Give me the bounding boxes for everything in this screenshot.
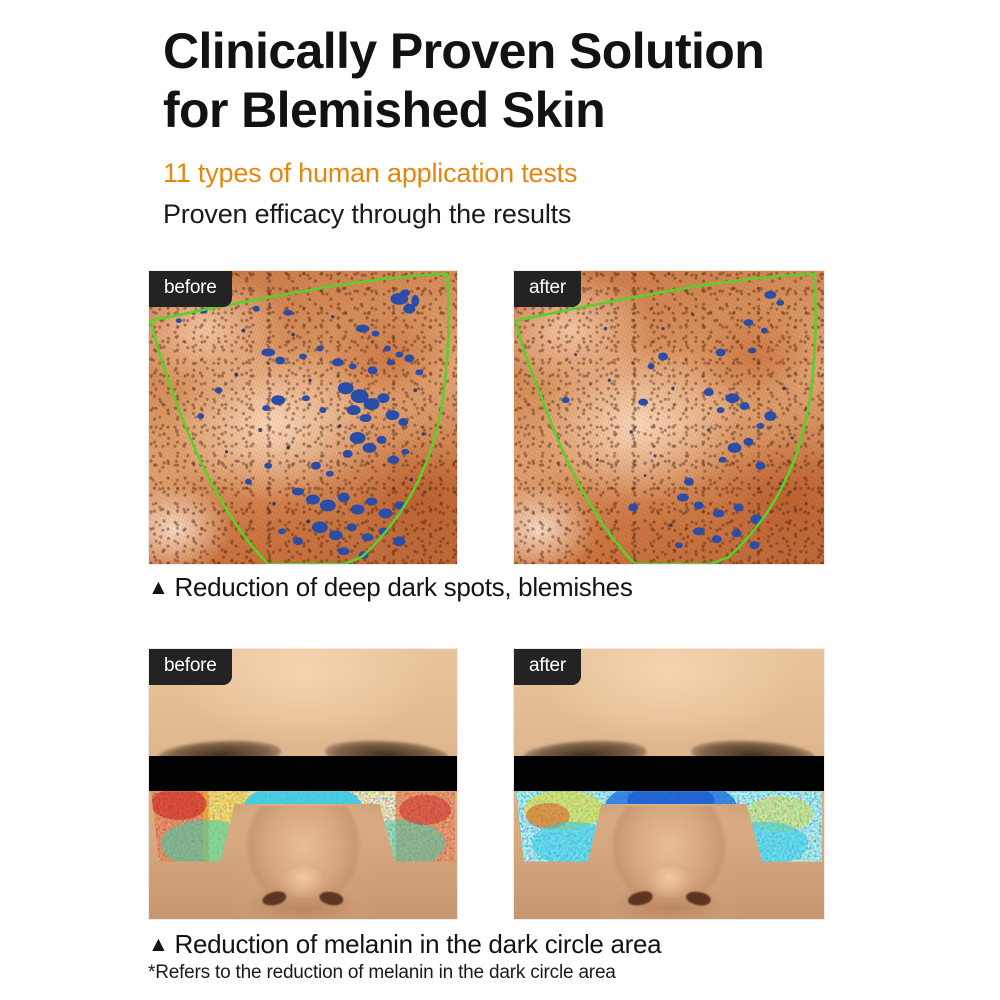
- privacy-censor-bar: [514, 756, 824, 791]
- badge-after: after: [514, 649, 581, 685]
- caption-deep-dark-spots: ▲Reduction of deep dark spots, blemishes: [148, 572, 633, 603]
- uv-photo-before: before: [148, 270, 458, 565]
- badge-before: before: [149, 649, 232, 685]
- caption-melanin-dark-circle: ▲Reduction of melanin in the dark circle…: [148, 929, 661, 960]
- face-photo-after: after: [513, 648, 825, 920]
- header-block: Clinically Proven Solution for Blemished…: [163, 22, 923, 232]
- triangle-bullet-icon: ▲: [148, 576, 169, 600]
- figure-melanin-dark-circle: before: [148, 648, 828, 920]
- face-photo-before: before: [148, 648, 458, 920]
- caption-text: Reduction of deep dark spots, blemishes: [175, 572, 633, 602]
- nose: [601, 806, 737, 920]
- triangle-bullet-icon: ▲: [148, 933, 169, 957]
- figure-deep-dark-spots: before: [148, 270, 828, 565]
- footnote-melanin: *Refers to the reduction of melanin in t…: [148, 962, 616, 984]
- caption-text: Reduction of melanin in the dark circle …: [175, 929, 662, 959]
- promo-page: Clinically Proven Solution for Blemished…: [0, 0, 1000, 1000]
- privacy-censor-bar: [149, 756, 457, 791]
- subtitle-secondary: Proven efficacy through the results: [163, 198, 923, 232]
- nose: [235, 806, 371, 920]
- page-title: Clinically Proven Solution for Blemished…: [163, 22, 923, 139]
- uv-photo-after: after: [513, 270, 825, 565]
- badge-before: before: [149, 271, 232, 307]
- badge-after: after: [514, 271, 581, 307]
- roi-outline-before: [149, 271, 457, 564]
- roi-outline-after: [514, 271, 824, 564]
- subtitle-highlight: 11 types of human application tests: [163, 157, 923, 191]
